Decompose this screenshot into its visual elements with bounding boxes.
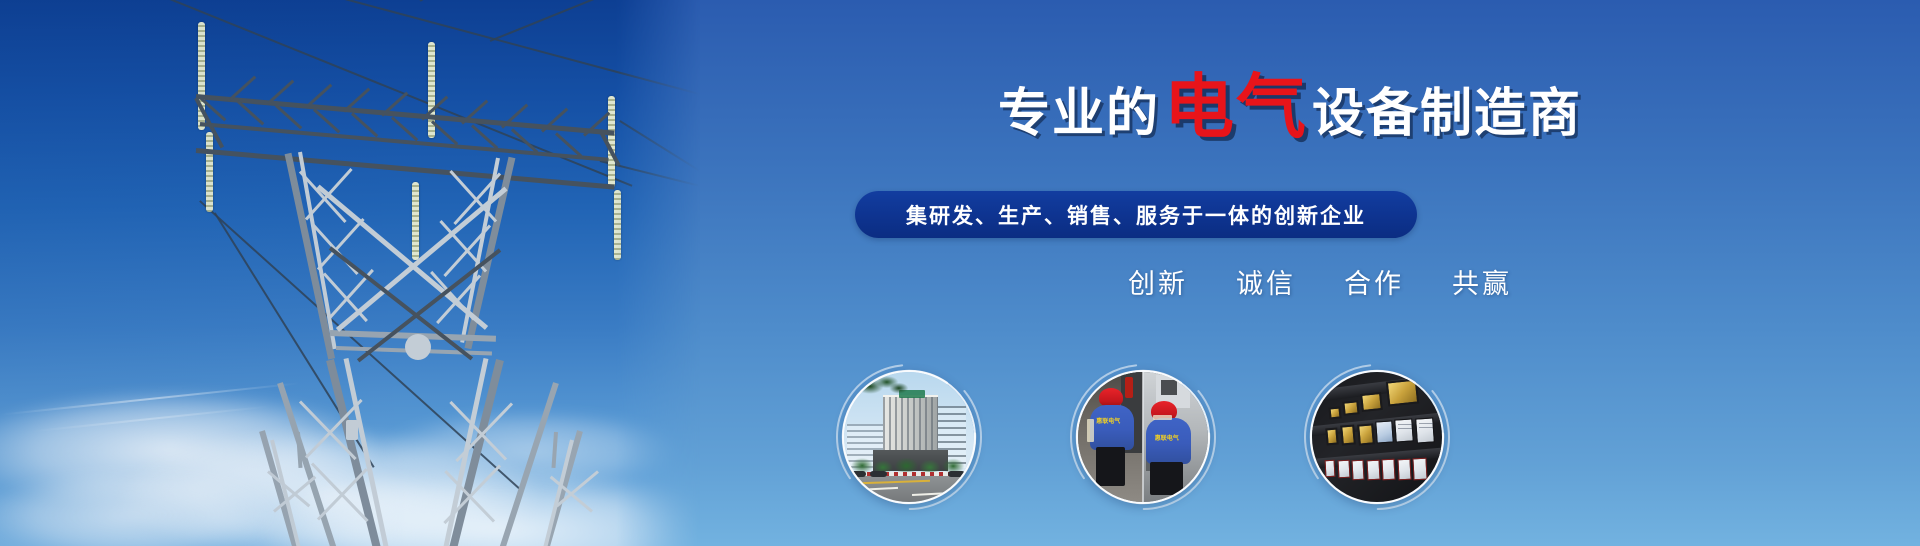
subtitle-text: 集研发、生产、销售、服务于一体的创新企业 bbox=[906, 200, 1366, 230]
transmission-tower-photo bbox=[0, 0, 700, 546]
headline-highlight: 电气 bbox=[1164, 68, 1308, 146]
headline-prefix: 专业的 bbox=[998, 85, 1160, 143]
hero-banner: 专业的电气设备制造商 集研发、生产、销售、服务于一体的创新企业 创新 诚信 合作… bbox=[0, 0, 1920, 546]
medallion-office-building[interactable] bbox=[842, 370, 976, 504]
pylon-structure bbox=[0, 0, 700, 546]
medallion-certificate-wall[interactable] bbox=[1310, 370, 1444, 504]
keyword-integrity: 诚信 bbox=[1236, 262, 1296, 301]
workers-onsite-photo: 惠联电气 惠联电气 bbox=[1076, 370, 1210, 504]
keyword-innovation: 创新 bbox=[1128, 262, 1188, 301]
subtitle-pill: 集研发、生产、销售、服务于一体的创新企业 bbox=[855, 191, 1417, 238]
keyword-row: 创新 诚信 合作 共赢 bbox=[660, 262, 1920, 301]
headline-suffix: 设备制造商 bbox=[1312, 85, 1582, 143]
keyword-winwin: 共赢 bbox=[1452, 262, 1512, 301]
medallion-row: 惠联电气 惠联电气 bbox=[660, 370, 1920, 546]
office-building-photo bbox=[842, 370, 976, 504]
medallion-workers-onsite[interactable]: 惠联电气 惠联电气 bbox=[1076, 370, 1210, 504]
keyword-cooperation: 合作 bbox=[1344, 262, 1404, 301]
headline: 专业的电气设备制造商 bbox=[660, 72, 1920, 142]
certificate-wall-photo bbox=[1310, 370, 1444, 504]
